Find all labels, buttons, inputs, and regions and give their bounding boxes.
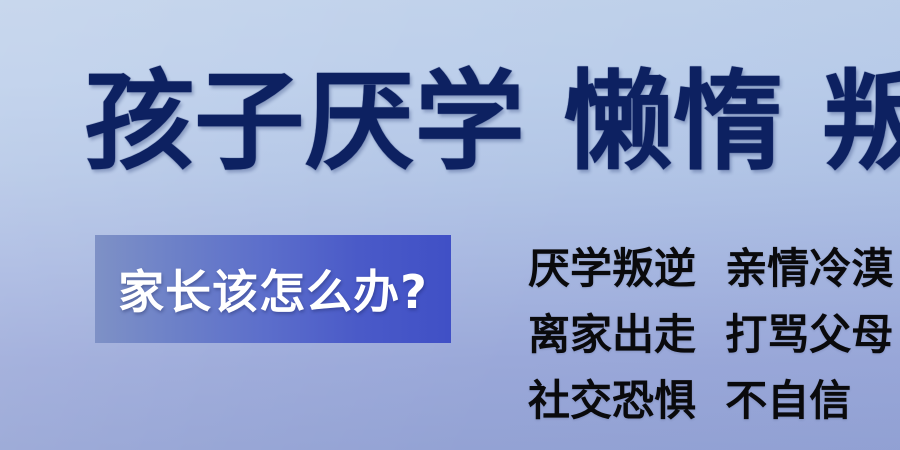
symptom-line: 厌学叛逆 亲情冷漠: [528, 236, 868, 302]
symptom-line: 社交恐惧 不自信: [528, 368, 868, 434]
headline-text: 孩子厌学 懒惰 叛逆: [84, 69, 900, 177]
poster-canvas: 孩子厌学 懒惰 叛逆 家长该怎么办? 厌学叛逆 亲情冷漠 离家出走 打骂父母 社…: [0, 0, 900, 450]
symptom-list: 厌学叛逆 亲情冷漠 离家出走 打骂父母 社交恐惧 不自信: [528, 236, 868, 434]
cta-question-text: 家长该怎么办?: [118, 256, 428, 322]
headline-banner: 孩子厌学 懒惰 叛逆: [84, 58, 824, 188]
symptom-line: 离家出走 打骂父母: [528, 302, 868, 368]
cta-highlight-box[interactable]: 家长该怎么办?: [95, 235, 451, 343]
